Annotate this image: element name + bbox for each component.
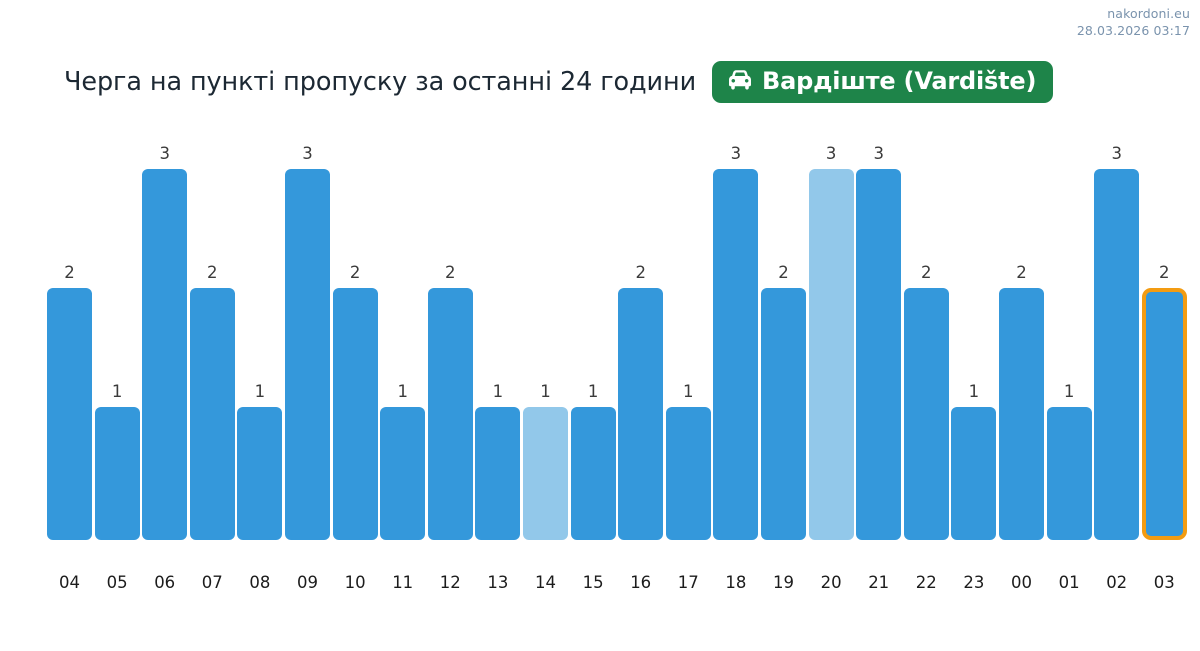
bar-value-label: 2 <box>904 265 949 282</box>
x-axis-label: 20 <box>809 575 854 592</box>
x-axis-label: 07 <box>190 575 235 592</box>
x-axis-label: 18 <box>713 575 758 592</box>
x-axis-label: 23 <box>951 575 996 592</box>
x-axis-label: 08 <box>237 575 282 592</box>
x-axis-label: 02 <box>1094 575 1139 592</box>
x-axis-label: 17 <box>666 575 711 592</box>
bar-group-20[interactable]: 320 <box>809 0 854 651</box>
bar-group-04[interactable]: 204 <box>47 0 92 651</box>
x-axis-label: 10 <box>333 575 378 592</box>
bar[interactable] <box>1094 169 1139 540</box>
bar-value-label: 2 <box>999 265 1044 282</box>
x-axis-label: 22 <box>904 575 949 592</box>
bar-value-label: 1 <box>95 384 140 401</box>
bar-value-label: 3 <box>142 146 187 163</box>
bar-group-05[interactable]: 105 <box>95 0 140 651</box>
bar[interactable] <box>761 288 806 540</box>
bar[interactable] <box>571 407 616 540</box>
queue-bar-chart: 2041053062071083092101112121131141152161… <box>0 0 1200 651</box>
bar[interactable] <box>951 407 996 540</box>
bar-group-10[interactable]: 210 <box>333 0 378 651</box>
bar-group-23[interactable]: 123 <box>951 0 996 651</box>
bar-value-label: 3 <box>1094 146 1139 163</box>
bar[interactable] <box>1142 288 1187 540</box>
bar[interactable] <box>333 288 378 540</box>
x-axis-label: 00 <box>999 575 1044 592</box>
x-axis-label: 12 <box>428 575 473 592</box>
bar[interactable] <box>142 169 187 540</box>
bar-group-19[interactable]: 219 <box>761 0 806 651</box>
bar-value-label: 2 <box>333 265 378 282</box>
bar-value-label: 3 <box>713 146 758 163</box>
bar[interactable] <box>904 288 949 540</box>
bar-value-label: 2 <box>761 265 806 282</box>
bar-value-label: 2 <box>1142 265 1187 282</box>
bar[interactable] <box>47 288 92 540</box>
x-axis-label: 09 <box>285 575 330 592</box>
bar[interactable] <box>713 169 758 540</box>
bar-group-01[interactable]: 101 <box>1047 0 1092 651</box>
bar-value-label: 2 <box>618 265 663 282</box>
x-axis-label: 01 <box>1047 575 1092 592</box>
bar-value-label: 1 <box>523 384 568 401</box>
bar-group-21[interactable]: 321 <box>856 0 901 651</box>
bar-value-label: 3 <box>285 146 330 163</box>
bar[interactable] <box>523 407 568 540</box>
bar[interactable] <box>666 407 711 540</box>
x-axis-label: 04 <box>47 575 92 592</box>
bar-value-label: 1 <box>475 384 520 401</box>
bar[interactable] <box>428 288 473 540</box>
bar-group-11[interactable]: 111 <box>380 0 425 651</box>
x-axis-label: 05 <box>95 575 140 592</box>
bar-group-12[interactable]: 212 <box>428 0 473 651</box>
bar-group-17[interactable]: 117 <box>666 0 711 651</box>
bar[interactable] <box>237 407 282 540</box>
x-axis-label: 15 <box>571 575 616 592</box>
bar-group-00[interactable]: 200 <box>999 0 1044 651</box>
bar-group-15[interactable]: 115 <box>571 0 616 651</box>
bar-value-label: 2 <box>428 265 473 282</box>
bar-value-label: 1 <box>571 384 616 401</box>
bar[interactable] <box>285 169 330 540</box>
bar[interactable] <box>809 169 854 540</box>
bar-group-18[interactable]: 318 <box>713 0 758 651</box>
bar-value-label: 3 <box>809 146 854 163</box>
bar-group-06[interactable]: 306 <box>142 0 187 651</box>
bar[interactable] <box>999 288 1044 540</box>
bar-value-label: 3 <box>856 146 901 163</box>
bar[interactable] <box>190 288 235 540</box>
bar-value-label: 1 <box>237 384 282 401</box>
bar[interactable] <box>380 407 425 540</box>
x-axis-label: 21 <box>856 575 901 592</box>
bar-group-16[interactable]: 216 <box>618 0 663 651</box>
bar-group-22[interactable]: 222 <box>904 0 949 651</box>
bar-group-08[interactable]: 108 <box>237 0 282 651</box>
bar-group-02[interactable]: 302 <box>1094 0 1139 651</box>
x-axis-label: 19 <box>761 575 806 592</box>
bar-group-03[interactable]: 203 <box>1142 0 1187 651</box>
bar-group-07[interactable]: 207 <box>190 0 235 651</box>
x-axis-label: 13 <box>475 575 520 592</box>
x-axis-label: 16 <box>618 575 663 592</box>
bar-value-label: 1 <box>1047 384 1092 401</box>
bar-group-13[interactable]: 113 <box>475 0 520 651</box>
bar-value-label: 1 <box>666 384 711 401</box>
x-axis-label: 06 <box>142 575 187 592</box>
x-axis-label: 11 <box>380 575 425 592</box>
bar-group-14[interactable]: 114 <box>523 0 568 651</box>
bar-value-label: 2 <box>47 265 92 282</box>
bar-value-label: 2 <box>190 265 235 282</box>
bar[interactable] <box>95 407 140 540</box>
bar[interactable] <box>618 288 663 540</box>
x-axis-label: 03 <box>1142 575 1187 592</box>
bar-value-label: 1 <box>380 384 425 401</box>
bar[interactable] <box>475 407 520 540</box>
bar[interactable] <box>1047 407 1092 540</box>
bar-group-09[interactable]: 309 <box>285 0 330 651</box>
bar[interactable] <box>856 169 901 540</box>
bar-value-label: 1 <box>951 384 996 401</box>
x-axis-label: 14 <box>523 575 568 592</box>
